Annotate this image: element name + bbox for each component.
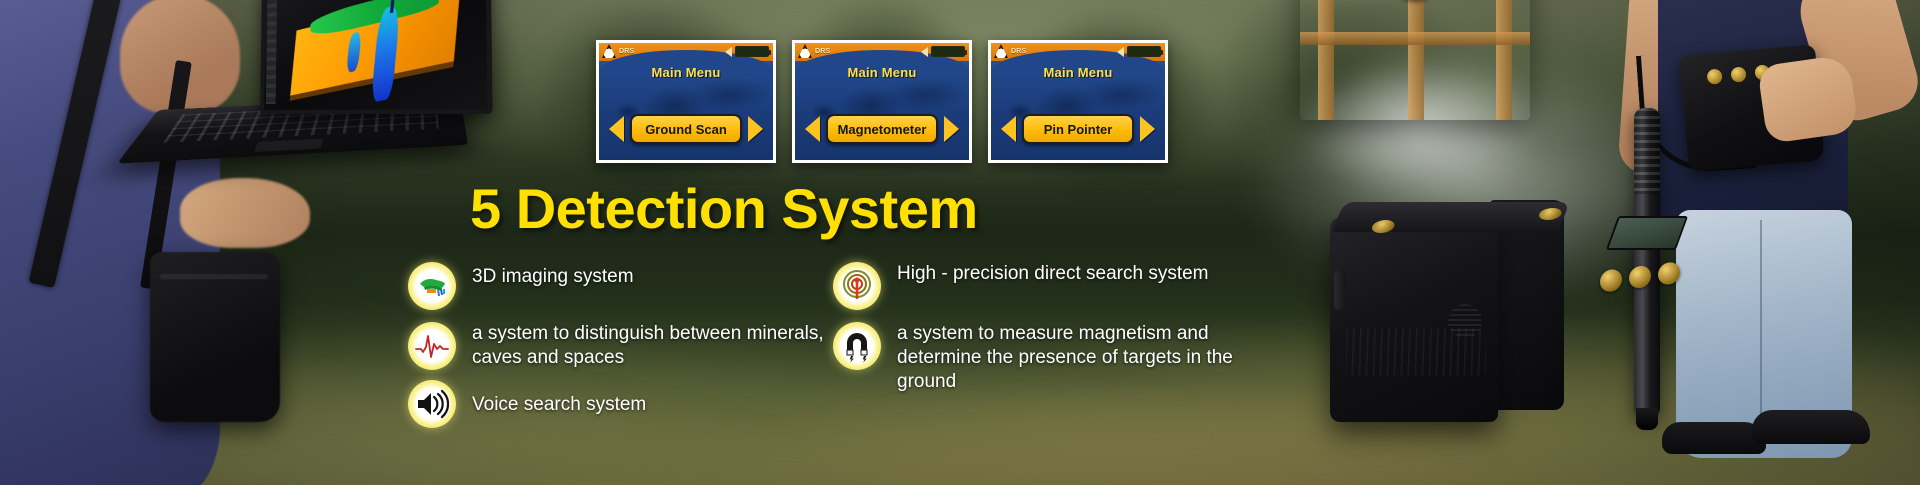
battery-icon <box>931 46 965 57</box>
status-bar-left: DRS <box>798 44 830 58</box>
speaker-icon <box>408 380 456 428</box>
status-bar-left: DRS <box>602 44 634 58</box>
panel-title: Main Menu <box>991 65 1165 80</box>
feature-label: Voice search system <box>472 380 646 417</box>
3d-imaging-icon <box>408 262 456 310</box>
device-panel-ground-scan[interactable]: DRS Main Menu Ground Scan <box>596 40 776 163</box>
3d-scan-visualization <box>283 0 477 114</box>
status-brand-label: DRS <box>815 48 830 55</box>
mode-button[interactable]: Magnetometer <box>826 114 939 144</box>
feature-item-3d-imaging: 3D imaging system <box>408 262 828 310</box>
signal-target-icon <box>833 262 881 310</box>
feature-label: a system to distinguish between minerals… <box>472 322 828 370</box>
status-bar-right <box>725 46 769 57</box>
panel-title: Main Menu <box>599 65 773 80</box>
volume-icon <box>725 47 732 57</box>
page-title: 5 Detection System <box>470 176 978 241</box>
scan-software-sidebar <box>266 0 277 104</box>
chest-strap-center <box>1408 0 1424 120</box>
volume-icon <box>1117 47 1124 57</box>
treasure-chest <box>1300 0 1530 120</box>
handheld-knob <box>1706 69 1722 85</box>
feature-item-magnetism: a system to measure magnetism and determ… <box>833 322 1263 394</box>
panel-mode-selector[interactable]: Magnetometer <box>795 114 969 144</box>
magnet-icon <box>833 322 881 370</box>
mode-button[interactable]: Ground Scan <box>630 114 742 144</box>
panel-mode-selector[interactable]: Pin Pointer <box>991 114 1165 144</box>
detector-brand-emblem <box>1346 328 1486 376</box>
mode-button[interactable]: Pin Pointer <box>1022 114 1134 144</box>
detector-top-panel <box>1332 202 1570 232</box>
feature-column-right: High - precision direct search system a … <box>833 262 1263 394</box>
feature-label: 3D imaging system <box>472 262 634 289</box>
next-mode-arrow-icon[interactable] <box>1140 116 1155 142</box>
prev-mode-arrow-icon[interactable] <box>609 116 624 142</box>
operator-right-hand <box>1757 54 1859 144</box>
detector-knob <box>1629 265 1651 290</box>
status-brand-label: DRS <box>619 48 634 55</box>
chest-band <box>1300 32 1530 45</box>
volume-icon <box>921 47 928 57</box>
prev-mode-arrow-icon[interactable] <box>805 116 820 142</box>
feature-item-high-precision: High - precision direct search system <box>833 262 1263 310</box>
status-bar-right <box>1117 46 1161 57</box>
detector-control-box <box>1330 196 1566 426</box>
device-panel-magnetometer[interactable]: DRS Main Menu Magnetometer <box>792 40 972 163</box>
feature-label: High - precision direct search system <box>897 262 1209 286</box>
brand-logo-icon <box>602 44 616 58</box>
next-mode-arrow-icon[interactable] <box>748 116 763 142</box>
operator-right-shoe-left <box>1662 422 1766 454</box>
detector-front-panel <box>1330 218 1498 422</box>
status-brand-label: DRS <box>1011 48 1026 55</box>
equipment-bag <box>150 252 280 422</box>
next-mode-arrow-icon[interactable] <box>944 116 959 142</box>
brand-logo-icon <box>798 44 812 58</box>
handheld-knob <box>1730 66 1746 82</box>
chest-strap-left <box>1318 0 1334 120</box>
laptop-3d-scan <box>170 0 470 180</box>
waveform-icon <box>408 322 456 370</box>
promo-banner: DRS Main Menu Ground Scan DRS <box>0 0 1920 485</box>
detector-knob <box>1600 268 1622 293</box>
jeans-seam <box>1760 220 1762 430</box>
battery-icon <box>735 46 769 57</box>
laptop-screen <box>260 0 493 114</box>
probe-grip <box>1634 108 1660 194</box>
device-screen-panels: DRS Main Menu Ground Scan DRS <box>596 40 1168 163</box>
feature-item-minerals-caves: a system to distinguish between minerals… <box>408 322 828 370</box>
prev-mode-arrow-icon[interactable] <box>1001 116 1016 142</box>
detector-port-cap-second <box>1537 208 1564 220</box>
detector-knob <box>1658 261 1680 286</box>
brand-logo-icon <box>994 44 1008 58</box>
feature-label: a system to measure magnetism and determ… <box>897 322 1263 394</box>
panel-mode-selector[interactable]: Ground Scan <box>599 114 773 144</box>
feature-column-left: 3D imaging system a system to distinguis… <box>408 262 828 428</box>
status-bar-right <box>921 46 965 57</box>
operator-right-shoe-right <box>1752 410 1870 444</box>
battery-icon <box>1127 46 1161 57</box>
laptop-trackpad <box>254 139 323 152</box>
detector-handle <box>1334 270 1346 310</box>
status-bar-left: DRS <box>994 44 1026 58</box>
device-panel-pin-pointer[interactable]: DRS Main Menu Pin Pointer <box>988 40 1168 163</box>
chest-strap-right <box>1496 0 1512 120</box>
probe-tip <box>1636 408 1658 430</box>
detector-port-cap <box>1370 220 1397 233</box>
feature-item-voice-search: Voice search system <box>408 380 828 428</box>
detector-display <box>1606 216 1688 250</box>
operator-left-forearm <box>180 178 310 248</box>
panel-title: Main Menu <box>795 65 969 80</box>
